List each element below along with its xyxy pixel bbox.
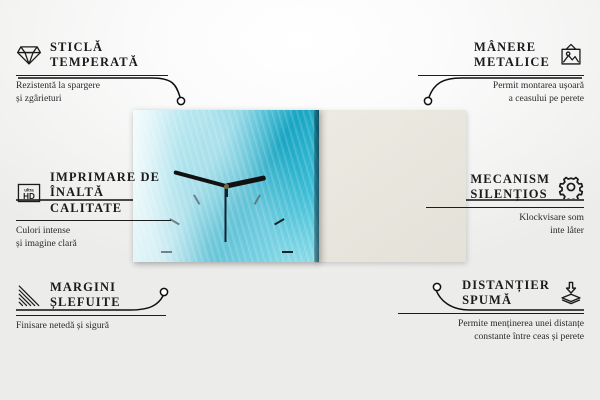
clock-hub <box>224 184 229 189</box>
hanging-picture-frame-icon <box>558 43 584 67</box>
feature-description: Rezistentă la spargere și zgârieturi <box>16 80 168 105</box>
feature-description: Culori intense și imagine clară <box>16 225 171 250</box>
divider <box>16 315 166 316</box>
svg-text:HD: HD <box>23 192 35 201</box>
feature-metal-handles: MÂNERE METALICE Permit montarea ușoară a… <box>418 40 584 105</box>
connector-dot-tempered-glass <box>177 97 184 104</box>
gear-icon <box>558 175 584 199</box>
clock-tick <box>227 251 293 253</box>
feature-description: Klockvisare som inte låter <box>426 212 584 237</box>
ultra-hd-icon: ultra HD <box>16 181 42 205</box>
feature-title: IMPRIMARE DE ÎNALTĂ CALITATE <box>50 170 171 216</box>
feature-title: DISTANȚIER SPUMĂ <box>462 278 550 309</box>
feature-description: Permit montarea ușoară a ceasului pe per… <box>418 80 584 105</box>
infographic-canvas: STICLĂ TEMPERATĂ Rezistentă la spargere … <box>0 0 600 400</box>
divider <box>398 313 584 314</box>
feature-description: Permite menținerea unei distanțe constan… <box>398 318 584 343</box>
feature-foam-spacer: DISTANȚIER SPUMĂ Permite menținerea unei… <box>398 278 584 343</box>
beveled-edge-icon <box>16 283 42 307</box>
press-down-stack-icon <box>558 281 584 305</box>
divider <box>16 220 171 221</box>
divider <box>16 75 168 76</box>
feature-title: MÂNERE METALICE <box>474 40 550 71</box>
feature-description: Finisare netedă și sigură <box>16 320 166 333</box>
feature-tempered-glass: STICLĂ TEMPERATĂ Rezistentă la spargere … <box>16 40 168 105</box>
feature-polished-edges: MARGINI ȘLEFUITE Finisare netedă și sigu… <box>16 280 166 333</box>
feature-title: MECANISM SILENȚIOS <box>470 172 550 203</box>
feature-title: STICLĂ TEMPERATĂ <box>50 40 139 71</box>
diamond-icon <box>16 43 42 67</box>
feature-title: MARGINI ȘLEFUITE <box>50 280 121 311</box>
feature-high-quality-print: ultra HD IMPRIMARE DE ÎNALTĂ CALITATE Cu… <box>16 170 171 250</box>
product-image <box>133 110 466 265</box>
divider <box>426 207 584 208</box>
feature-silent-mechanism: MECANISM SILENȚIOS Klockvisare som inte … <box>426 172 584 237</box>
glass-edge <box>314 110 319 262</box>
divider <box>418 75 584 76</box>
clock-tick <box>161 251 227 253</box>
